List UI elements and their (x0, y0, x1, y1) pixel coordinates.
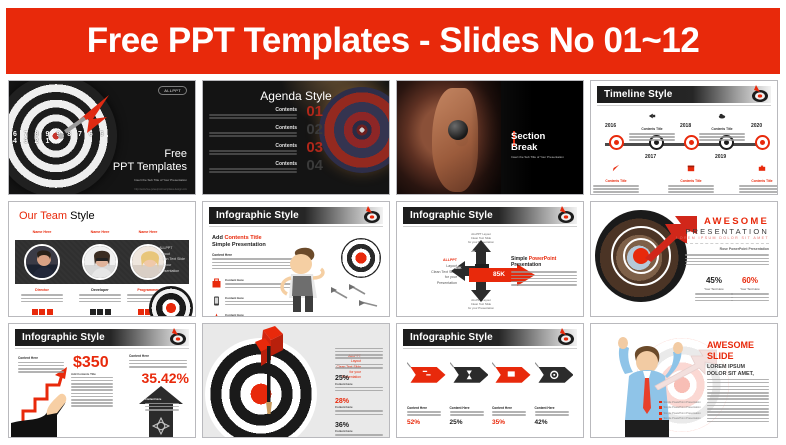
bullet-text: Simple PowerPoint Presentation (664, 417, 701, 420)
cloud-icon (718, 112, 726, 120)
timeline-caption: Contents Title (668, 161, 714, 194)
timeline-caption-title: Contents Title (629, 127, 675, 131)
left-body (18, 362, 64, 373)
amount-caption: Add Contents Title (71, 372, 113, 376)
bullet-marker (659, 418, 662, 421)
agenda-item: Contents 03 (211, 143, 319, 161)
calendar-icon (687, 164, 695, 172)
timeline-caption-body (593, 185, 639, 193)
stat-item: 25% Content Here (335, 375, 383, 392)
bullet-item: Simple PowerPoint Presentation (659, 412, 717, 415)
agenda-item: Contents 02 (211, 125, 319, 143)
stat-item: 28% Content Here (335, 398, 383, 415)
timeline-caption: Contents Title (593, 161, 639, 194)
flag-value: 52% (407, 419, 446, 426)
feature-text: Content Here (225, 313, 297, 316)
stat-desc-2 (731, 293, 769, 301)
slide5-title: Our Team Style (19, 210, 95, 222)
slide-thumb-11-infographic-flags[interactable]: Infographic Style (396, 323, 584, 438)
timeline-caption-title: Contents Title (593, 179, 639, 183)
slide-header-bar: Infographic Style (15, 329, 189, 346)
slide8-title-line2: PRESENTATION (685, 227, 769, 236)
flag-arrow (450, 360, 489, 384)
right-title-line2: Presentation (511, 262, 577, 268)
flag-item: Content Here 25% (450, 360, 489, 426)
member-desc (21, 294, 63, 304)
timeline-node[interactable] (755, 135, 770, 150)
flag-caption: Content Here 35% (492, 406, 531, 426)
dart-tip-graphic (448, 120, 468, 140)
agenda-item-label: Contents (275, 107, 297, 113)
cart-icon (508, 371, 515, 376)
stat-desc (335, 410, 383, 415)
slide4-title: Timeline Style (604, 89, 672, 100)
slide5-title-rest: Style (67, 210, 95, 222)
right-content: Content Here (129, 354, 187, 370)
slide1-title: Free PPT Templates (113, 148, 187, 174)
timeline-caption-body (668, 185, 714, 193)
slide12-subtitle-line2: DOLOR SIT AMET, (707, 371, 769, 378)
slides-grid: 6 7 8 9 9 8 7 6 5 4 3 2 1 ALLPPT Free PP… (6, 80, 780, 438)
intro-body (335, 348, 383, 359)
slide12-subtitle: LOREM IPSUM DOLOR SIT AMET, (707, 364, 769, 378)
slide8-body (685, 254, 769, 267)
flag-caption: Content Here 25% (450, 406, 489, 426)
agenda-list: Contents 01 Contents 02 Contents 03 (211, 107, 319, 179)
slide-thumb-7-infographic-arrows[interactable]: Infographic Style ALLPPT Layout Clean Te… (396, 201, 584, 316)
timeline-caption: Contents Title (739, 161, 777, 194)
slide-header-bar: Timeline Style (597, 86, 771, 103)
slide2-title: Agenda Style (203, 89, 389, 103)
templates-preview-page: Free PPT Templates - Slides No 01~12 6 7… (0, 8, 786, 445)
intro-body-2 (335, 364, 383, 369)
flag-desc (535, 411, 569, 416)
slide-thumb-6-infographic-character[interactable]: Infographic Style Add Contents Title Sim… (202, 201, 390, 316)
person-silhouette-icon (84, 246, 118, 280)
left-content: Content Here (18, 356, 64, 375)
flag-caption: Content Here 42% (535, 406, 574, 426)
slide-thumb-1-title[interactable]: 6 7 8 9 9 8 7 6 5 4 3 2 1 ALLPPT Free PP… (8, 80, 196, 195)
arrow-value-left: 85K (455, 266, 462, 270)
flag-arrow-shape (407, 360, 446, 388)
stat-value-2: 60% (731, 276, 769, 285)
flag-desc (450, 411, 484, 416)
slide3-subtitle: Insert the Sub Title of Your Presentatio… (511, 155, 573, 159)
feature-item: Content Here (212, 313, 304, 316)
arrow-value-right: 85K (493, 271, 505, 278)
bullet-marker (659, 406, 662, 409)
social-icon-1[interactable] (90, 309, 96, 315)
social-icon-2[interactable] (39, 309, 45, 315)
flag-arrow-shape (535, 360, 574, 388)
banner-title: Free PPT Templates - Slides No 01~12 (87, 21, 700, 61)
slide12-subtitle-line1: LOREM IPSUM (707, 364, 769, 371)
flag-title: Content Here (535, 406, 574, 410)
timeline-caption-body (629, 133, 675, 141)
stat-block-2: Your Text Here (731, 287, 769, 303)
businessman-illustration (275, 246, 333, 312)
stat-value: 25% (335, 375, 383, 382)
agenda-item-body (209, 132, 297, 138)
flag-item: Content Here 42% (535, 360, 574, 426)
agenda-item: Contents 01 (211, 107, 319, 125)
flag-arrow (407, 360, 446, 384)
flag-item: Content Here 52% (407, 360, 446, 426)
slide-thumb-4-timeline[interactable]: Timeline Style 2016 2017 (590, 80, 778, 195)
header-rule (403, 226, 577, 227)
timeline-caption-body (739, 185, 777, 193)
agenda-item-label: Contents (275, 161, 297, 167)
timeline-node[interactable] (609, 135, 624, 150)
flag-arrow-shape (492, 360, 531, 388)
slide3-text: Section Break Insert the Sub Title of Yo… (511, 131, 573, 159)
avatar (82, 244, 118, 280)
slide1-title-line1: Free (113, 148, 187, 161)
header-rule (403, 348, 577, 349)
slide8-title-line1: AWESOME (704, 216, 769, 227)
darts-scattered-icon (331, 284, 383, 310)
stat-label: Content Here (335, 405, 383, 409)
agenda-item-label: Contents (275, 143, 297, 149)
slide-thumb-10-dice-dartboard[interactable]: ALLPPT Layout Clean Text Slide for your … (202, 323, 390, 438)
bullet-text: Simple PowerPoint Presentation (664, 412, 701, 415)
stats-column: 25% Content Here 28% Content Here 36% Co… (335, 348, 383, 437)
member-name: Name Here (21, 230, 63, 234)
dart-icon (612, 164, 620, 172)
slide1-subtitle: Insert the Sub Title of Your Presentatio… (134, 178, 187, 182)
slide-header-bar: Infographic Style (209, 207, 383, 224)
stat-label-1: Your Text Here (695, 287, 733, 291)
dart-icon (53, 93, 113, 145)
flag-caption: Content Here 52% (407, 406, 446, 426)
member-role: Director (21, 288, 63, 292)
bag-icon (212, 278, 221, 288)
bullet-marker (659, 412, 662, 415)
stat-desc (335, 434, 383, 437)
avatar (24, 244, 60, 280)
stat-value: 36% (335, 422, 383, 429)
percent-value: 35.42% (142, 370, 189, 386)
right-text: Simple PowerPoint Presentation (511, 256, 577, 287)
slide-thumb-5-our-team[interactable]: Our Team Style Name Here Director (8, 201, 196, 316)
mini-dartboard-icon (555, 328, 575, 345)
flag-value: 25% (450, 419, 489, 426)
flag-item: Content Here 35% (492, 360, 531, 426)
stat-block-1: Your Text Here (695, 287, 733, 303)
social-icons[interactable] (21, 309, 63, 315)
slide-thumb-8-awesome-presentation[interactable]: AWESOME PRESENTATION LOREM IPSUM DOLOR S… (590, 201, 778, 316)
bullet-marker (659, 401, 662, 404)
timeline-year: 2017 (645, 154, 656, 160)
arrow-caption-body (145, 403, 179, 411)
timeline-caption-body (699, 133, 745, 141)
stat-label: Content Here (335, 382, 383, 386)
slide-thumb-9-infographic-growth[interactable]: Infographic Style Content Here (8, 323, 196, 438)
bullet-item: Simple PowerPoint Presentation (659, 406, 717, 409)
megaphone-icon (648, 112, 656, 120)
slide8-caption: Rose PowerPoint Presentation (685, 247, 769, 251)
arrow-caption-title: Content Here (145, 398, 179, 401)
stat-desc-1 (695, 293, 733, 301)
stat-label-2: Your Text Here (731, 287, 769, 291)
person-silhouette-icon (26, 246, 60, 280)
slide-header-bar: Infographic Style (403, 329, 577, 346)
member-desc (79, 294, 121, 304)
flag-value: 42% (535, 419, 574, 426)
slide8-subtitle: LOREM IPSUM DOLOR SIT AMET (676, 236, 769, 240)
slide-header-bar: Infographic Style (403, 207, 577, 224)
heading-accent: Contents Title (224, 235, 261, 241)
slide12-title-line1: AWESOME (707, 340, 769, 351)
slide-thumb-2-agenda[interactable]: Agenda Style Contents 01 Contents 02 Con… (202, 80, 390, 195)
right-label: Content Here (129, 354, 187, 358)
slide6-heading: Add Contents Title (212, 235, 262, 241)
header-rule (597, 105, 771, 106)
slide1-url: http://www.free-powerpoint-templates-des… (135, 188, 187, 191)
flag-arrow-shape (450, 360, 489, 388)
flag-desc (492, 411, 526, 416)
bullet-item: Simple PowerPoint Presentation (659, 401, 717, 404)
member-name: Name Here (127, 230, 169, 234)
agenda-item-number: 03 (306, 139, 323, 156)
slide5-title-accent: Our Team (19, 210, 67, 222)
social-icon-1[interactable] (32, 309, 38, 315)
bullet-text: Simple PowerPoint Presentation (664, 406, 701, 409)
stat-value: 28% (335, 398, 383, 405)
slide6-heading-line2: Simple Presentation (212, 242, 266, 248)
agenda-item-number: 04 (306, 157, 323, 174)
arrow-value-up: 85K (469, 250, 476, 254)
agenda-item-body (209, 150, 297, 156)
avatar-photo (26, 246, 58, 278)
slide9-title: Infographic Style (22, 332, 105, 343)
flag-title: Content Here (450, 406, 489, 410)
mini-dartboard-icon (749, 85, 769, 102)
slide6-title: Infographic Style (216, 210, 299, 221)
social-icon-3[interactable] (47, 309, 53, 315)
star-icon (212, 313, 221, 316)
dice-dart-graphic (249, 326, 289, 422)
timeline-year: 2018 (680, 123, 691, 129)
stat-desc (335, 387, 383, 392)
right-body (129, 360, 187, 368)
timeline-caption-title: Contents Title (739, 179, 777, 183)
slide7-title: Infographic Style (410, 210, 493, 221)
timeline-year: 2020 (751, 123, 762, 129)
divider (685, 243, 769, 244)
flag-arrow (535, 360, 574, 384)
slide-thumb-12-awesome-slide[interactable]: AWESOME SLIDE LOREM IPSUM DOLOR SIT AMET… (590, 323, 778, 438)
agenda-item-number: 02 (306, 121, 323, 138)
mini-dartboard-icon (167, 328, 187, 345)
allppt-logo: ALLPPT (158, 86, 187, 95)
agenda-item-label: Contents (275, 125, 297, 131)
dartboard-target (341, 238, 381, 278)
stat-label: Content Here (335, 429, 383, 433)
social-icons[interactable] (79, 309, 121, 315)
agenda-item: Contents 04 (211, 161, 319, 179)
timeline-node[interactable] (684, 135, 699, 150)
feature-title: Content Here (225, 313, 297, 316)
slide12-title-line2: SLIDE (707, 351, 769, 362)
flag-title: Content Here (407, 406, 446, 410)
bullet-item: Simple PowerPoint Presentation (659, 417, 717, 420)
avatar-photo (84, 246, 116, 278)
bullet-list: Simple PowerPoint Presentation Simple Po… (659, 401, 717, 423)
flag-value: 35% (492, 419, 531, 426)
slide-thumb-3-section-break[interactable]: Section Break Insert the Sub Title of Yo… (396, 80, 584, 195)
flag-title: Content Here (492, 406, 531, 410)
flag-arrow (492, 360, 531, 384)
phone-icon (212, 296, 221, 306)
slide12-subtitle-small (707, 379, 769, 385)
timeline-year: 2019 (715, 154, 726, 160)
timeline-caption: Contents Title (629, 109, 675, 143)
stat-item: 36% Content Here (335, 422, 383, 437)
member-name: Name Here (79, 230, 121, 234)
agenda-item-body (209, 168, 297, 174)
left-caption: ALLPPTLayoutClean Text Slidefor yourPres… (405, 252, 457, 287)
banner: Free PPT Templates - Slides No 01~12 (6, 8, 780, 74)
right-body (511, 271, 577, 285)
slide12-title: AWESOME SLIDE (707, 340, 769, 362)
social-icon-2[interactable] (97, 309, 103, 315)
header-rule (209, 226, 383, 227)
timeline-year: 2016 (605, 123, 616, 129)
member-role: Developer (79, 288, 121, 292)
arrow-caption: Content Here (145, 398, 179, 413)
header-rule (15, 348, 189, 349)
slide11-title: Infographic Style (410, 332, 493, 343)
timeline-caption-title: Contents Title (699, 127, 745, 131)
timeline-caption-title: Contents Title (668, 179, 714, 183)
flag-arrow-row: Content Here 52% (407, 360, 573, 426)
heading-plain: Add (212, 235, 224, 241)
mid-body (71, 377, 113, 409)
social-icon-1[interactable] (138, 309, 144, 315)
mini-dartboard-icon (555, 206, 575, 223)
slide1-title-line2: PPT Templates (113, 161, 187, 174)
agenda-item-body (209, 114, 297, 120)
timeline-caption: Contents Title (699, 109, 745, 143)
mini-dartboard-icon (361, 206, 381, 223)
stat-value-1: 45% (695, 276, 733, 285)
briefcase-icon (758, 164, 766, 172)
slide3-title: Section Break (511, 131, 573, 153)
left-label: Content Here (18, 356, 64, 360)
amount-value: $350 (73, 354, 109, 372)
flag-desc (407, 411, 441, 416)
social-icon-3[interactable] (105, 309, 111, 315)
agenda-item-number: 01 (306, 103, 323, 120)
content-label: Content Here (212, 253, 232, 257)
side-text: ALLPPT Layout Clean Text Slide for your … (159, 246, 185, 274)
bullet-text: Simple PowerPoint Presentation (664, 401, 701, 404)
